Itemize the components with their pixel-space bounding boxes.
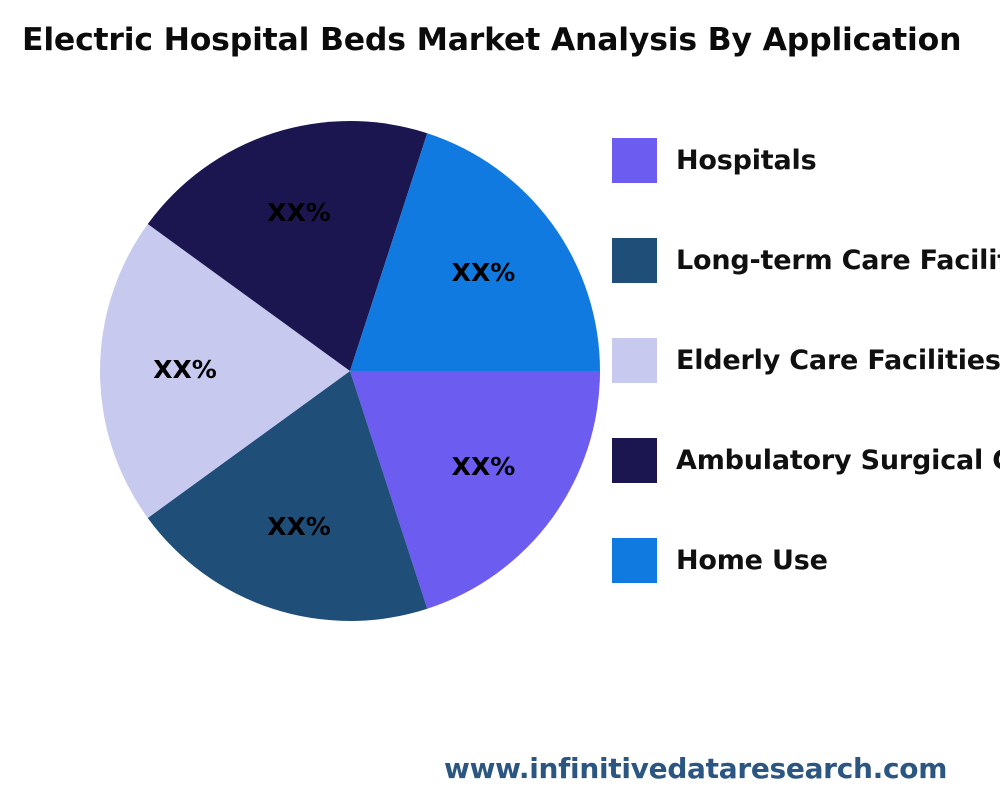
legend: Hospitals Long-term Care Facilities Elde… (612, 110, 1000, 610)
pie-chart-figure: Electric Hospital Beds Market Analysis B… (0, 0, 1000, 800)
pie-slice-label: XX% (267, 512, 331, 541)
legend-item-label: Hospitals (676, 147, 816, 174)
legend-swatch-icon (612, 538, 657, 583)
legend-swatch-icon (612, 338, 657, 383)
legend-item-home-use[interactable]: Home Use (612, 510, 1000, 610)
pie-slice-label: XX% (153, 355, 217, 384)
legend-swatch-icon (612, 438, 657, 483)
legend-swatch-icon (612, 238, 657, 283)
pie-plot-area: XX%XX%XX%XX%XX% (100, 121, 600, 621)
legend-item-label: Long-term Care Facilities (676, 247, 1000, 274)
footer-website-url[interactable]: www.infinitivedataresearch.com (444, 752, 947, 785)
pie-slice-label: XX% (267, 198, 331, 227)
legend-item-ambulatory-surgical-centers[interactable]: Ambulatory Surgical Centers (612, 410, 1000, 510)
pie-slice-label: XX% (452, 258, 516, 287)
legend-item-elderly-care-facilities[interactable]: Elderly Care Facilities (612, 310, 1000, 410)
legend-item-label: Elderly Care Facilities (676, 347, 1000, 374)
legend-item-long-term-care-facilities[interactable]: Long-term Care Facilities (612, 210, 1000, 310)
legend-item-label: Ambulatory Surgical Centers (676, 447, 1000, 474)
legend-item-label: Home Use (676, 547, 828, 574)
legend-swatch-icon (612, 138, 657, 183)
pie-slice-label: XX% (452, 452, 516, 481)
pie-svg: XX%XX%XX%XX%XX% (100, 121, 600, 621)
legend-item-hospitals[interactable]: Hospitals (612, 110, 1000, 210)
chart-title: Electric Hospital Beds Market Analysis B… (22, 22, 1000, 60)
